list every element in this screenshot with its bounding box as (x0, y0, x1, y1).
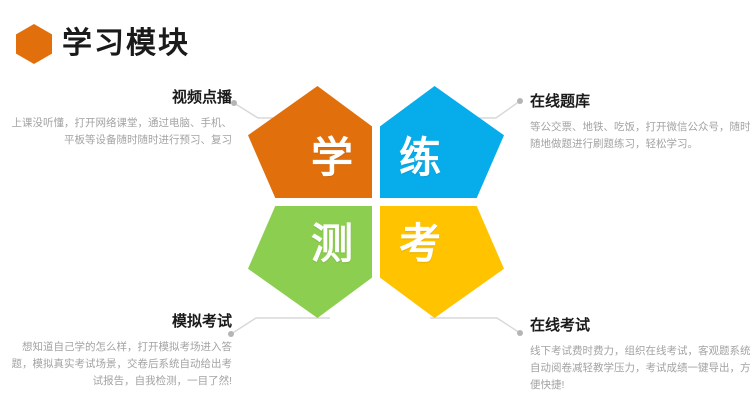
caption-exam: 在线考试 线下考试费时费力，组织在线考试，客观题系统自动阅卷减轻教学压力，考试成… (530, 316, 750, 394)
caption-video-body: 上课没听懂，打开网络课堂，通过电脑、手机、平板等设备随时随时进行预习、复习 (6, 115, 232, 149)
caption-bank-title: 在线题库 (530, 92, 750, 112)
petal-ce[interactable]: 测 (248, 206, 372, 318)
petal-kao[interactable]: 考 (380, 206, 504, 318)
petal-xue-glyph: 学 (311, 137, 353, 179)
caption-video: 视频点播 上课没听懂，打开网络课堂，通过电脑、手机、平板等设备随时随时进行预习、… (6, 88, 232, 149)
connector-exam (430, 318, 523, 336)
caption-exam-body: 线下考试费时费力，组织在线考试，客观题系统自动阅卷减轻教学压力，考试成绩一键导出… (530, 343, 750, 394)
slide-header: 学习模块 (0, 0, 750, 78)
caption-mock: 模拟考试 想知道自己学的怎么样，打开模拟考场进入答题，模拟真实考试场景，交卷后系… (6, 312, 232, 390)
caption-mock-title: 模拟考试 (6, 312, 232, 332)
caption-video-title: 视频点播 (6, 88, 232, 108)
hexagon-icon (16, 24, 52, 64)
page-title: 学习模块 (62, 24, 190, 64)
caption-bank-body: 等公交票、地铁、吃饭，打开微信公众号，随时随地做题进行刷题练习，轻松学习。 (530, 119, 750, 153)
learning-module-diagram: 学 练 测 考 (248, 86, 512, 318)
caption-exam-title: 在线考试 (530, 316, 750, 336)
petal-lian-glyph: 练 (399, 137, 441, 179)
petal-kao-glyph: 考 (399, 223, 441, 265)
petal-xue[interactable]: 学 (248, 86, 372, 198)
petal-ce-glyph: 测 (311, 223, 353, 265)
caption-mock-body: 想知道自己学的怎么样，打开模拟考场进入答题，模拟真实考试场景，交卷后系统自动给出… (6, 339, 232, 390)
connector-mock (228, 318, 330, 337)
caption-bank: 在线题库 等公交票、地铁、吃饭，打开微信公众号，随时随地做题进行刷题练习，轻松学… (530, 92, 750, 153)
petal-lian[interactable]: 练 (380, 86, 504, 198)
